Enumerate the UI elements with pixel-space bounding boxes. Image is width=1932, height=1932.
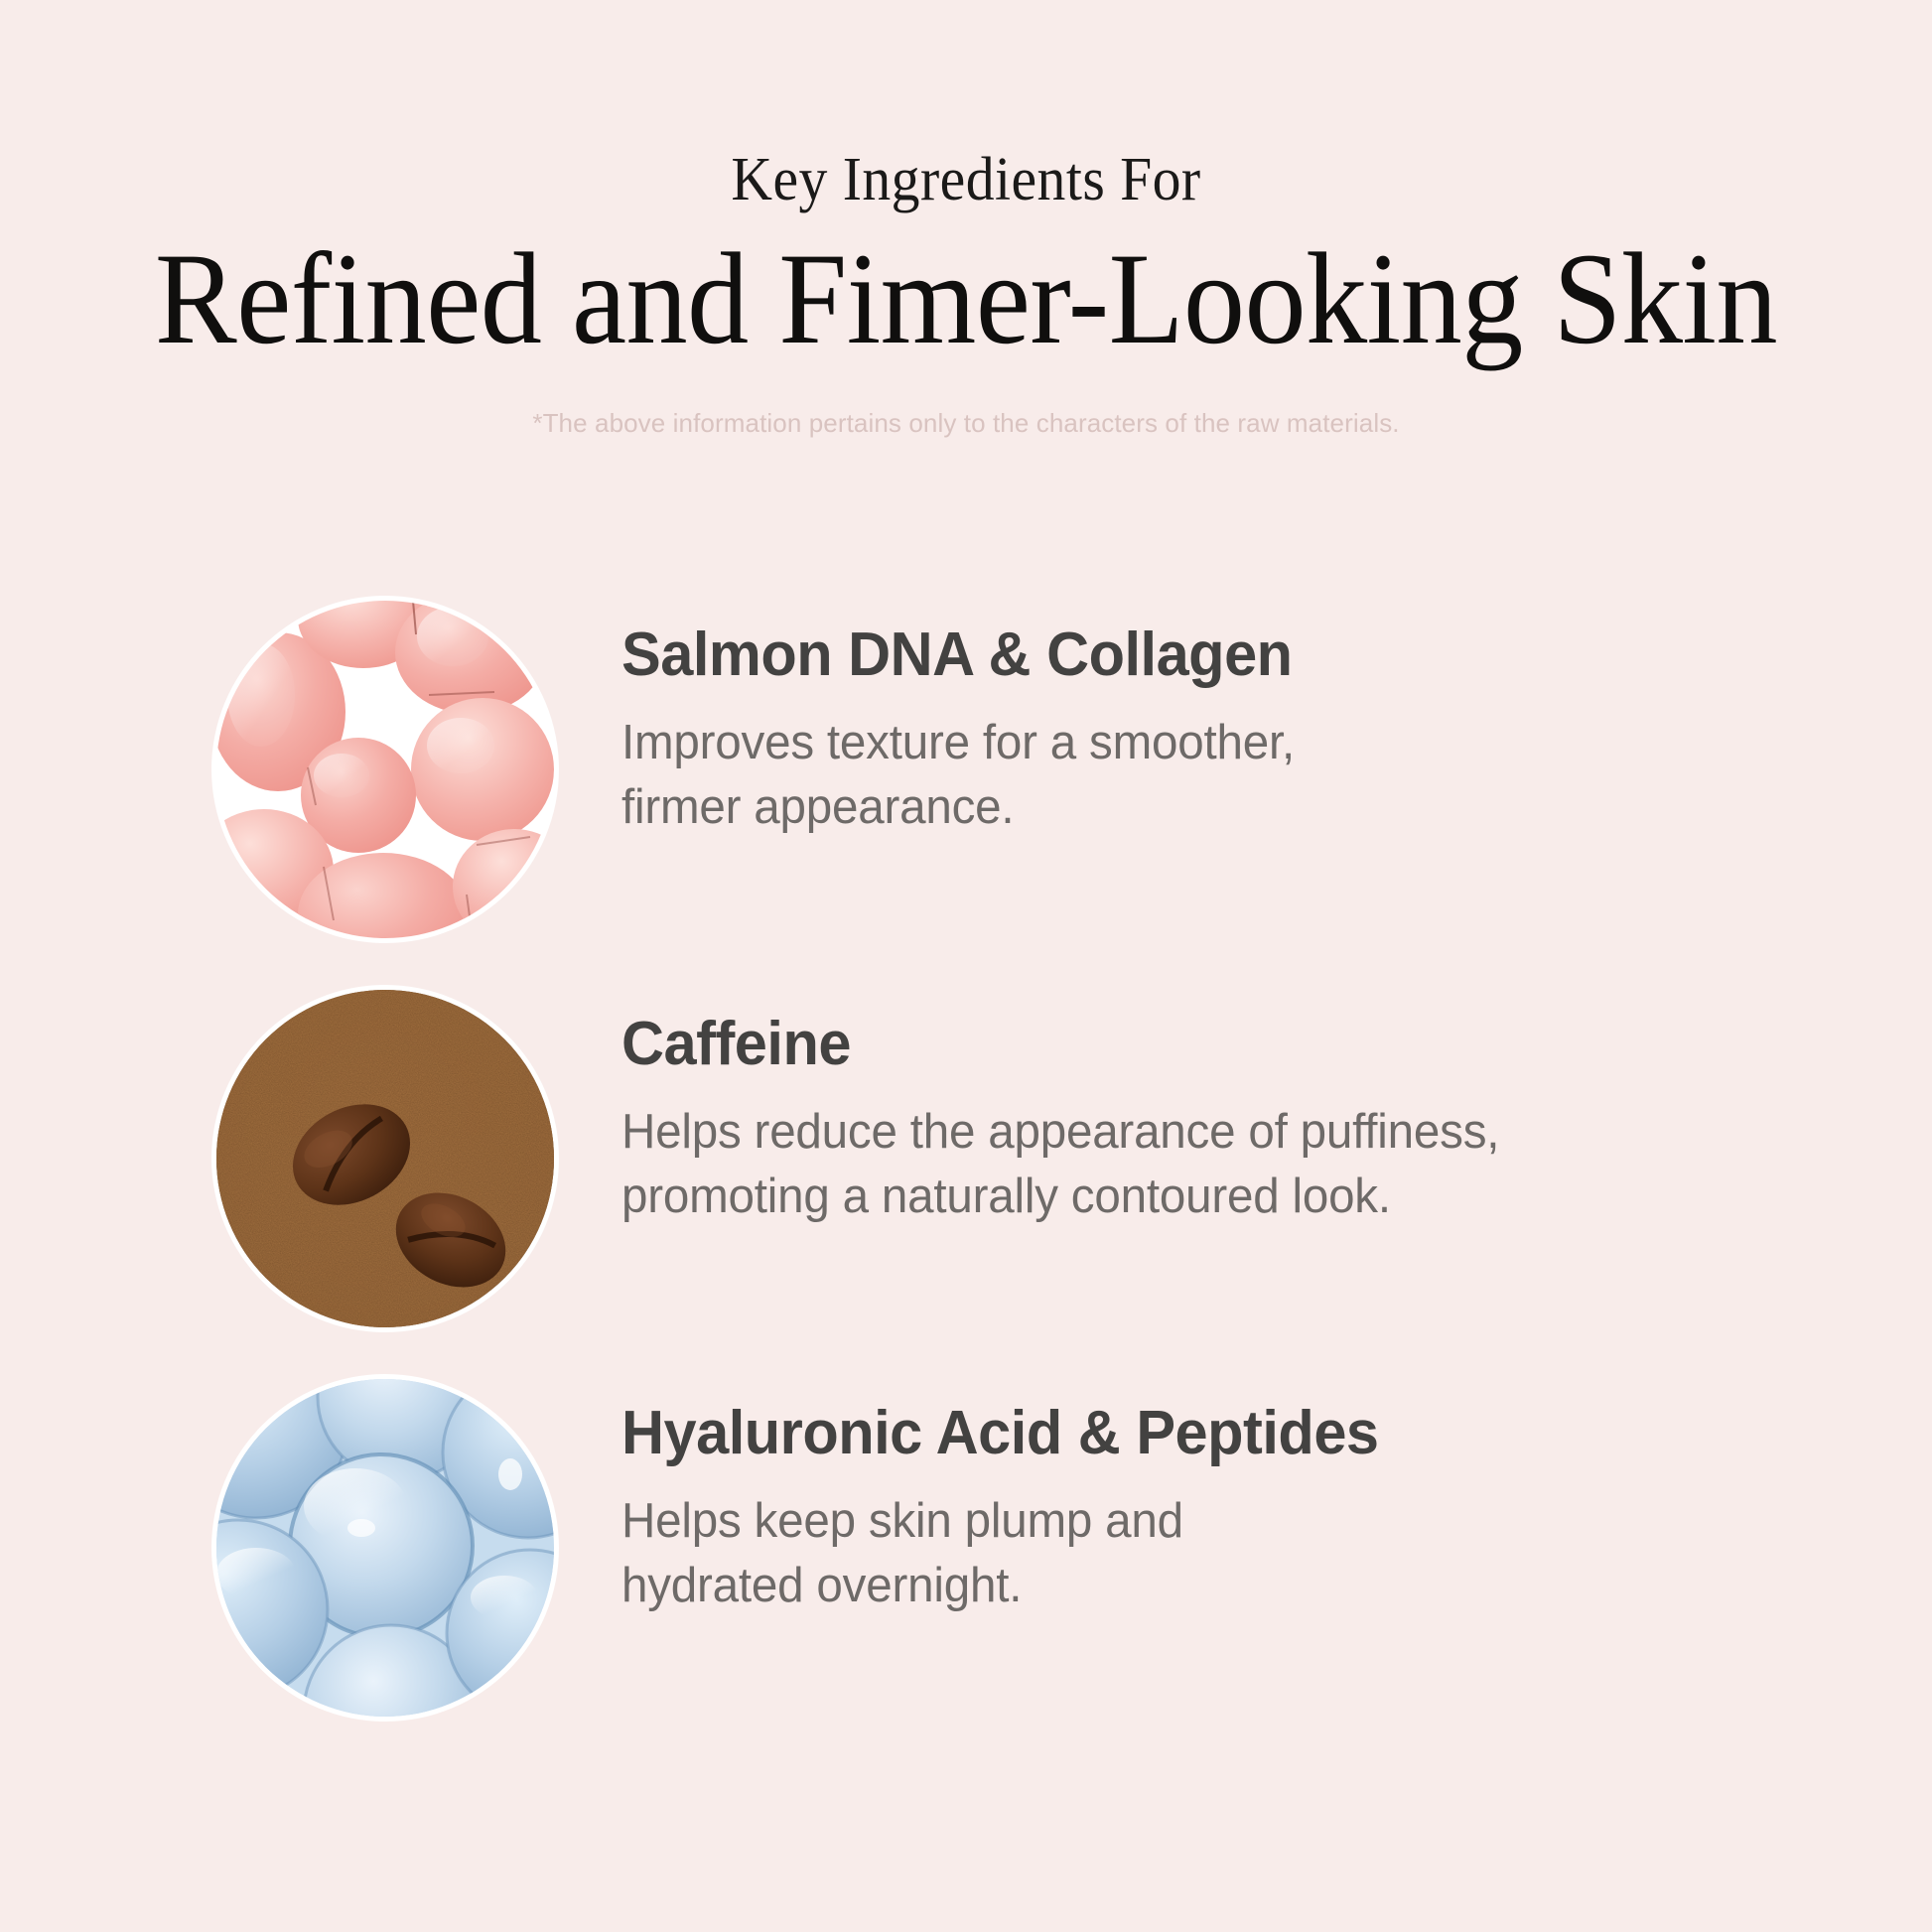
ingredient-copy: Hyaluronic Acid & Peptides Helps keep sk… bbox=[621, 1379, 1932, 1617]
ingredient-list: Salmon DNA & Collagen Improves texture f… bbox=[0, 601, 1932, 1768]
list-item: Salmon DNA & Collagen Improves texture f… bbox=[0, 601, 1932, 990]
page-title: Refined and Fimer-Looking Skin bbox=[58, 232, 1873, 366]
disclaimer-text: *The above information pertains only to … bbox=[0, 408, 1932, 439]
ingredient-title: Salmon DNA & Collagen bbox=[621, 622, 1879, 687]
ingredient-thumbnail-wrap bbox=[216, 601, 554, 938]
blue-spheres-photo bbox=[216, 1379, 554, 1717]
ingredient-thumbnail-wrap bbox=[216, 1379, 554, 1717]
ingredient-copy: Salmon DNA & Collagen Improves texture f… bbox=[621, 601, 1932, 839]
eyebrow-text: Key Ingredients For bbox=[68, 149, 1864, 210]
list-item: Caffeine Helps reduce the appearance of … bbox=[0, 990, 1932, 1379]
ingredient-title: Hyaluronic Acid & Peptides bbox=[621, 1401, 1879, 1465]
ingredient-thumbnail-wrap bbox=[216, 990, 554, 1327]
ingredient-copy: Caffeine Helps reduce the appearance of … bbox=[621, 990, 1932, 1228]
infographic-page: Key Ingredients For Refined and Fimer-Lo… bbox=[0, 0, 1932, 1932]
ingredient-description: Improves texture for a smoother, firmer … bbox=[621, 711, 1892, 839]
header: Key Ingredients For Refined and Fimer-Lo… bbox=[0, 0, 1932, 439]
list-item: Hyaluronic Acid & Peptides Helps keep sk… bbox=[0, 1379, 1932, 1768]
ingredient-title: Caffeine bbox=[621, 1012, 1879, 1076]
coffee-grounds-photo bbox=[216, 990, 554, 1327]
pink-capsules-photo bbox=[216, 601, 554, 938]
ingredient-description: Helps reduce the appearance of puffiness… bbox=[621, 1100, 1892, 1228]
ingredient-description: Helps keep skin plump and hydrated overn… bbox=[621, 1489, 1892, 1617]
